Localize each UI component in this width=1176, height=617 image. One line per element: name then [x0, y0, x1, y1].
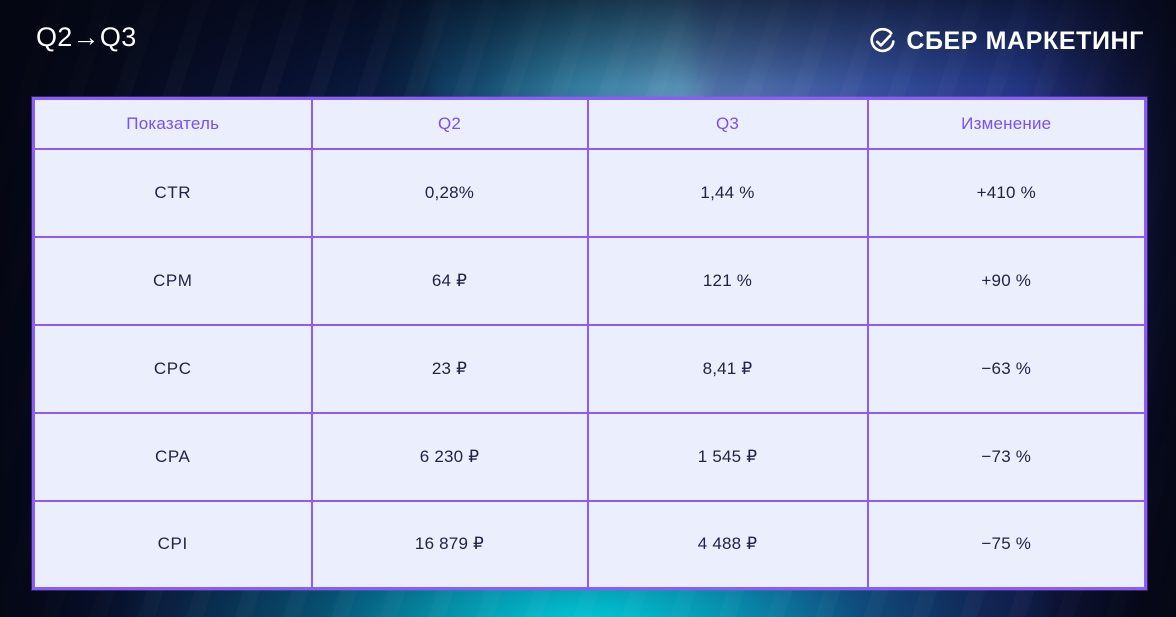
- cell-q2: 23 ₽: [312, 325, 588, 413]
- slide-title: Q2→Q3: [36, 22, 137, 53]
- table-row: CPA 6 230 ₽ 1 545 ₽ −73 %: [34, 413, 1146, 501]
- column-header-q3: Q3: [588, 99, 868, 149]
- table-row: CPI 16 879 ₽ 4 488 ₽ −75 %: [34, 501, 1146, 589]
- cell-q3: 121 %: [588, 237, 868, 325]
- cell-q2: 0,28%: [312, 149, 588, 237]
- cell-metric: CTR: [34, 149, 312, 237]
- cell-metric: CPA: [34, 413, 312, 501]
- table-body: CTR 0,28% 1,44 % +410 % CPM 64 ₽ 121 % +…: [34, 149, 1146, 589]
- table-row: CTR 0,28% 1,44 % +410 %: [34, 149, 1146, 237]
- table-row: CPM 64 ₽ 121 % +90 %: [34, 237, 1146, 325]
- cell-metric: CPI: [34, 501, 312, 589]
- circle-check-icon: [868, 27, 897, 56]
- cell-q3: 1 545 ₽: [588, 413, 868, 501]
- brand-name: СБЕР МАРКЕТИНГ: [906, 27, 1144, 56]
- cell-change: −63 %: [868, 325, 1146, 413]
- table-header: Показатель Q2 Q3 Изменение: [34, 99, 1146, 149]
- cell-q3: 1,44 %: [588, 149, 868, 237]
- cell-metric: CPC: [34, 325, 312, 413]
- column-header-q2: Q2: [312, 99, 588, 149]
- cell-q3: 4 488 ₽: [588, 501, 868, 589]
- brand-logo: СБЕР МАРКЕТИНГ: [868, 27, 1144, 56]
- table-header-row: Показатель Q2 Q3 Изменение: [34, 99, 1146, 149]
- metrics-table: Показатель Q2 Q3 Изменение CTR 0,28% 1,4…: [32, 97, 1147, 590]
- cell-change: +90 %: [868, 237, 1146, 325]
- cell-metric: CPM: [34, 237, 312, 325]
- column-header-metric: Показатель: [34, 99, 312, 149]
- cell-q2: 6 230 ₽: [312, 413, 588, 501]
- cell-change: −75 %: [868, 501, 1146, 589]
- cell-change: +410 %: [868, 149, 1146, 237]
- cell-q2: 64 ₽: [312, 237, 588, 325]
- table-row: CPC 23 ₽ 8,41 ₽ −63 %: [34, 325, 1146, 413]
- slide-canvas: Q2→Q3 СБЕР МАРКЕТИНГ Показатель Q2 Q3 Из…: [0, 0, 1176, 617]
- column-header-change: Изменение: [868, 99, 1146, 149]
- cell-change: −73 %: [868, 413, 1146, 501]
- cell-q3: 8,41 ₽: [588, 325, 868, 413]
- cell-q2: 16 879 ₽: [312, 501, 588, 589]
